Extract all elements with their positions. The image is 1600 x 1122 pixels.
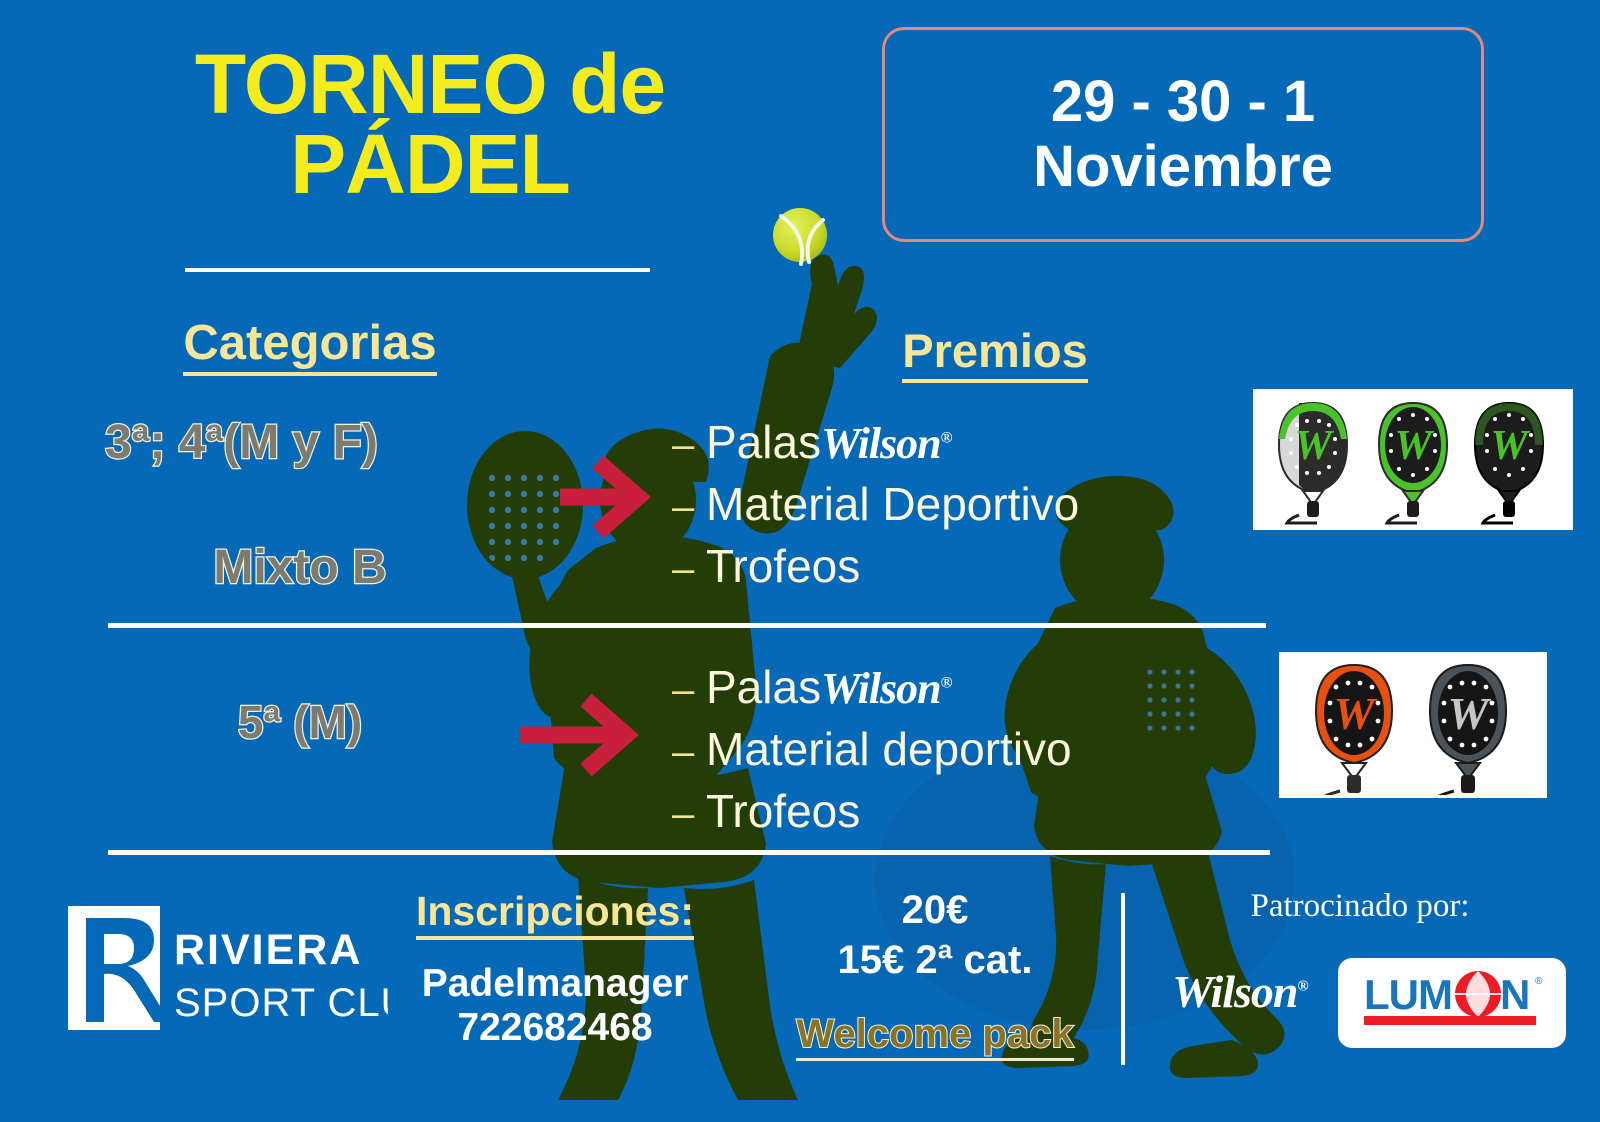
svg-text:W: W bbox=[1394, 423, 1434, 469]
svg-text:W: W bbox=[1448, 688, 1492, 739]
wilson-text: Wilson bbox=[821, 419, 941, 468]
category-item-1: 3ª; 4ª(M y F) bbox=[105, 415, 585, 470]
prize-row: – Palas Wilson® bbox=[672, 415, 1232, 469]
riviera-logo-mark bbox=[68, 906, 170, 1030]
prize-label: Material Deportivo bbox=[706, 477, 1079, 531]
lumon-text-left: LUM bbox=[1364, 971, 1452, 1018]
category-item-3: 5ª (M) bbox=[105, 695, 495, 749]
section-divider-1 bbox=[108, 623, 1266, 628]
sponsor-vertical-divider bbox=[1121, 893, 1125, 1065]
section-divider-2 bbox=[108, 850, 1270, 855]
svg-text:W: W bbox=[1490, 423, 1530, 469]
riviera-wordmark-line-1: RIVIERA bbox=[174, 926, 362, 974]
prize-row: – Material deportivo bbox=[672, 722, 1232, 776]
riviera-sport-club-logo: RIVIERA SPORT CLUB bbox=[68, 898, 388, 1038]
date-month: Noviembre bbox=[1033, 135, 1333, 200]
registered-mark: ® bbox=[941, 429, 952, 446]
prize-row: – Palas Wilson® bbox=[672, 660, 1232, 714]
title-divider bbox=[185, 268, 650, 272]
registered-mark: ® bbox=[1298, 979, 1308, 995]
lumon-underline-bar bbox=[1364, 1016, 1536, 1025]
prize-label: Trofeos bbox=[706, 539, 860, 593]
page-title: TORNEO de PÁDEL bbox=[120, 45, 740, 205]
bullet-dash: – bbox=[672, 547, 706, 592]
wilson-text: Wilson bbox=[821, 664, 941, 713]
prize-row: – Material Deportivo bbox=[672, 477, 1232, 531]
categories-heading: Categorias bbox=[110, 315, 510, 371]
riviera-wordmark-line-2: SPORT CLUB bbox=[174, 981, 388, 1025]
bullet-dash: – bbox=[672, 423, 706, 468]
pricing-block: 20€ 15€ 2ª cat. bbox=[760, 885, 1110, 985]
bullet-dash: – bbox=[672, 730, 706, 775]
registered-mark: ® bbox=[1535, 976, 1543, 987]
arrow-right-icon-bottom bbox=[520, 700, 626, 770]
registered-mark: ® bbox=[941, 674, 952, 691]
sponsors-heading: Patrocinado por: bbox=[1140, 888, 1580, 925]
categories-heading-label: Categorias bbox=[183, 316, 436, 376]
wilson-wordmark: Wilson® bbox=[821, 663, 952, 714]
lumon-sponsor-logo: LUM N ® bbox=[1338, 958, 1566, 1048]
three-padel-rackets-icon: W W bbox=[1263, 395, 1563, 525]
prize-label: Palas bbox=[706, 415, 821, 469]
two-padel-rackets-icon: W W bbox=[1288, 655, 1538, 795]
prize-label: Palas bbox=[706, 660, 821, 714]
registration-phone: 722682468 bbox=[385, 1006, 725, 1050]
svg-text:W: W bbox=[1294, 423, 1334, 469]
racket-photo-orange-set: W W bbox=[1279, 652, 1547, 798]
registration-heading-label: Inscripciones: bbox=[416, 888, 694, 940]
category-item-2: Mixto B bbox=[105, 540, 495, 595]
wilson-sponsor-text: Wilson bbox=[1172, 966, 1297, 1017]
bullet-dash: – bbox=[672, 485, 706, 530]
price-second-category: 15€ 2ª cat. bbox=[760, 935, 1110, 985]
wilson-wordmark: Wilson® bbox=[821, 418, 952, 469]
wilson-sponsor-logo: Wilson® bbox=[1140, 965, 1340, 1018]
welcome-pack-label: Welcome pack bbox=[796, 1012, 1073, 1061]
registration-heading: Inscripciones: bbox=[385, 888, 725, 935]
racket-photo-green-set: W W bbox=[1253, 389, 1573, 530]
bullet-dash: – bbox=[672, 668, 706, 713]
registration-platform: Padelmanager bbox=[385, 962, 725, 1006]
padel-tournament-poster: TORNEO de PÁDEL 29 - 30 - 1 Noviembre Ca… bbox=[0, 0, 1600, 1122]
prize-list-block-2: – Palas Wilson® – Material deportivo – T… bbox=[672, 660, 1232, 846]
prize-row: – Trofeos bbox=[672, 784, 1232, 838]
prize-label: Material deportivo bbox=[706, 722, 1072, 776]
registration-details: Padelmanager 722682468 bbox=[385, 962, 725, 1049]
prizes-heading: Premios bbox=[810, 323, 1180, 378]
bullet-dash: – bbox=[672, 792, 706, 837]
title-line-1: TORNEO de bbox=[120, 45, 740, 125]
svg-text:W: W bbox=[1334, 688, 1378, 739]
title-line-2: PÁDEL bbox=[120, 125, 740, 205]
prize-row: – Trofeos bbox=[672, 539, 1232, 593]
prizes-heading-label: Premios bbox=[902, 324, 1087, 383]
date-days: 29 - 30 - 1 bbox=[1033, 70, 1333, 135]
welcome-pack-note: Welcome pack bbox=[760, 1012, 1110, 1057]
date-box: 29 - 30 - 1 Noviembre bbox=[882, 27, 1484, 242]
price-standard: 20€ bbox=[760, 885, 1110, 935]
lumon-text-right: N bbox=[1500, 971, 1529, 1018]
padel-ball-icon bbox=[773, 208, 827, 264]
prize-list-block-1: – Palas Wilson® – Material Deportivo – T… bbox=[672, 415, 1232, 601]
arrow-right-icon-top bbox=[560, 462, 638, 532]
prize-label: Trofeos bbox=[706, 784, 860, 838]
